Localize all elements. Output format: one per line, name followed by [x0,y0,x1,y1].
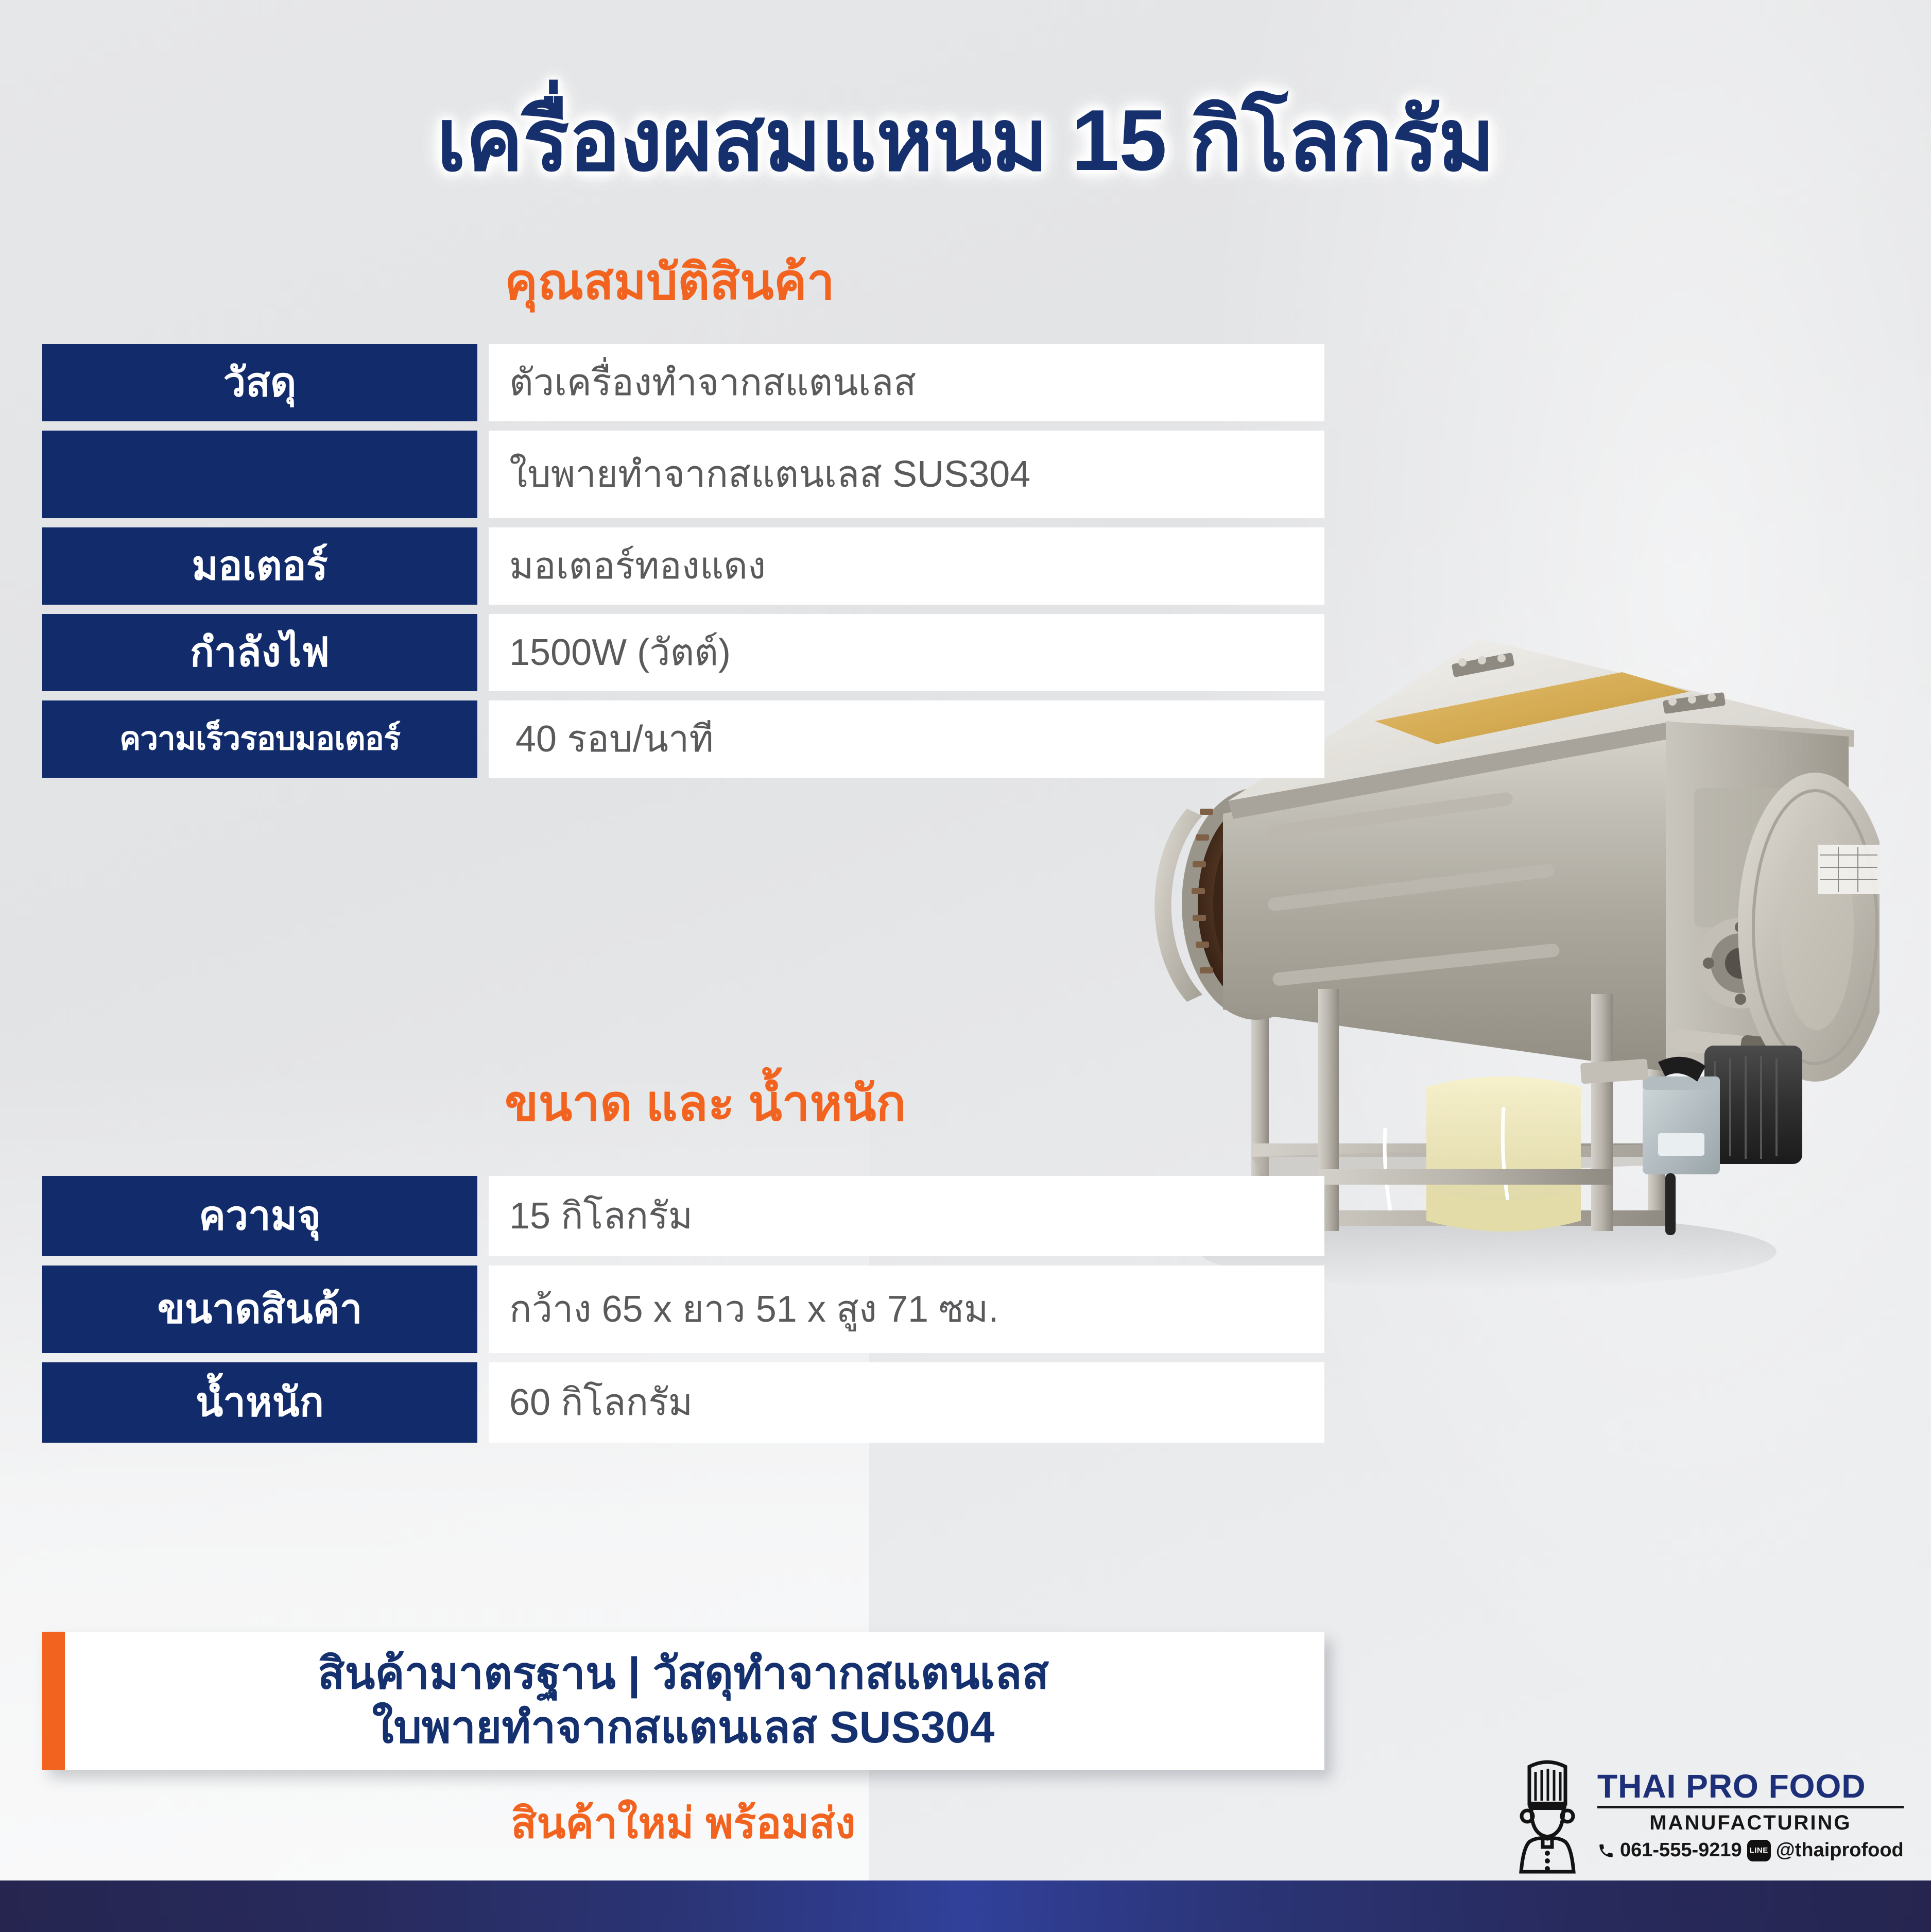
phone-icon [1597,1842,1615,1859]
infographic-page: เครื่องผสมแหนม 15 กิโลกรัม คุณสมบัติสินค… [0,0,1931,1932]
logo-phone-number: 061-555-9219 [1620,1839,1742,1861]
spec-value-motor: มอเตอร์ทองแดง [489,527,1324,605]
spec-label-material-2 [42,431,477,518]
line-icon: LINE [1747,1840,1771,1861]
banner-line-1: สินค้ามาตรฐาน | วัสดุทำจากสแตนเลส [65,1647,1302,1701]
logo-company-name: THAI PRO FOOD [1597,1770,1904,1803]
spec-label-weight: น้ำหนัก [42,1362,477,1443]
spec-label-capacity: ความจุ [42,1176,477,1256]
table-row: ใบพายทำจากสแตนเลส SUS304 [42,431,1324,518]
spec-table-size-weight: ความจุ 15 กิโลกรัม ขนาดสินค้า กว้าง 65 x… [42,1176,1324,1452]
logo-subtitle: MANUFACTURING [1597,1813,1904,1833]
table-row: ความเร็วรอบมอเตอร์ 40 รอบ/นาที [42,700,1324,778]
spec-value-material: ตัวเครื่องทำจากสแตนเลส [489,344,1324,421]
spec-table-features: วัสดุ ตัวเครื่องทำจากสแตนเลส ใบพายทำจากส… [42,344,1324,787]
table-row: วัสดุ ตัวเครื่องทำจากสแตนเลส [42,344,1324,421]
bottom-accent-bar [0,1880,1931,1932]
tagline: สินค้าใหม่ พร้อมส่ง [42,1803,1324,1845]
table-row: ความจุ 15 กิโลกรัม [42,1176,1324,1256]
company-logo: THAI PRO FOOD MANUFACTURING 061-555-9219… [1509,1751,1900,1880]
table-row: ขนาดสินค้า กว้าง 65 x ยาว 51 x สูง 71 ซม… [42,1266,1324,1353]
spec-value-motor-speed: 40 รอบ/นาที [489,700,1324,778]
page-title: เครื่องผสมแหนม 15 กิโลกรัม [436,92,1494,189]
section-heading-size-weight: ขนาด และ น้ำหนัก [505,1079,906,1129]
spec-value-capacity: 15 กิโลกรัม [489,1176,1324,1256]
spec-label-dimensions: ขนาดสินค้า [42,1266,477,1353]
logo-contact-row: 061-555-9219 LINE @thaiprofood [1597,1839,1904,1861]
spec-label-motor-speed: ความเร็วรอบมอเตอร์ [42,700,477,778]
section-heading-features: คุณสมบัติสินค้า [505,258,835,307]
spec-label-power: กำลังไฟ [42,614,477,691]
spec-value-dimensions: กว้าง 65 x ยาว 51 x สูง 71 ซม. [489,1266,1324,1353]
title-container: เครื่องผสมแหนม 15 กิโลกรัม [0,92,1931,189]
highlight-banner: สินค้ามาตรฐาน | วัสดุทำจากสแตนเลส ใบพายท… [42,1632,1324,1770]
spec-label-motor: มอเตอร์ [42,527,477,605]
spec-value-power: 1500W (วัตต์) [489,614,1324,691]
spec-value-paddle: ใบพายทำจากสแตนเลส SUS304 [489,431,1324,518]
table-row: น้ำหนัก 60 กิโลกรัม [42,1362,1324,1443]
logo-text-block: THAI PRO FOOD MANUFACTURING 061-555-9219… [1597,1770,1904,1861]
table-row: กำลังไฟ 1500W (วัตต์) [42,614,1324,691]
spec-value-weight: 60 กิโลกรัม [489,1362,1324,1443]
spec-label-material: วัสดุ [42,344,477,421]
banner-line-2: ใบพายทำจากสแตนเลส SUS304 [65,1701,1302,1755]
banner-accent-bar [42,1632,65,1770]
chef-icon [1509,1756,1586,1875]
table-row: มอเตอร์ มอเตอร์ทองแดง [42,527,1324,605]
banner-text: สินค้ามาตรฐาน | วัสดุทำจากสแตนเลส ใบพายท… [65,1647,1324,1755]
logo-divider [1597,1806,1904,1808]
logo-line-id: @thaiprofood [1776,1839,1904,1861]
